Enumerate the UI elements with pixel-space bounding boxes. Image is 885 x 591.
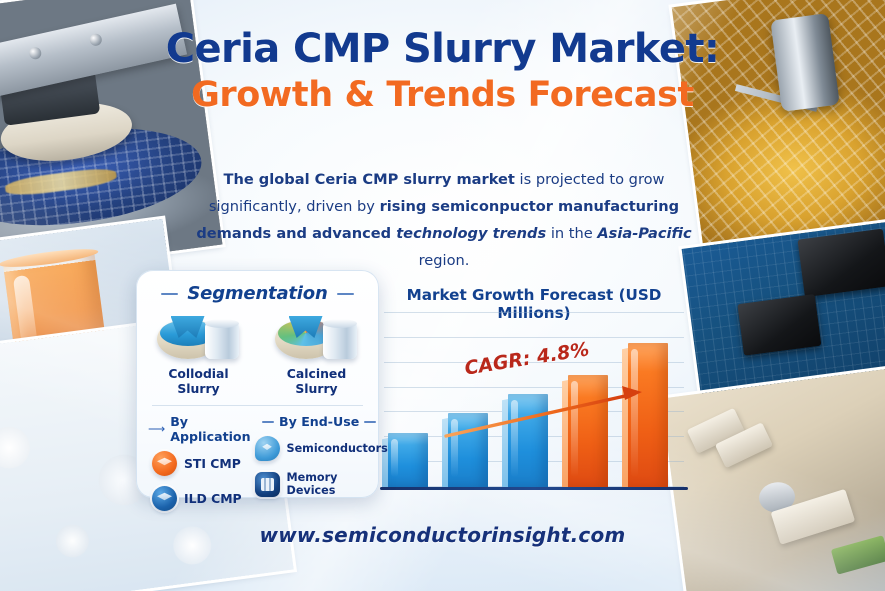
chart-plot-area: CAGR: 4.8% (384, 312, 684, 490)
column-by-application: ⟶ By Application STI CMP ILD CMP (148, 414, 251, 521)
segmentation-columns: ⟶ By Application STI CMP ILD CMP By End-… (136, 414, 379, 521)
intro-text-6: Asia-Pacific (597, 225, 691, 242)
page-title: Ceria CMP Slurry Market: (0, 26, 885, 72)
segmentation-divider (152, 405, 363, 406)
memory-devices-icon (255, 472, 280, 497)
intro-text-5: in the (546, 225, 597, 242)
by-end-use-label: By End-Use (279, 414, 359, 429)
sti-cmp-label: STI CMP (184, 456, 241, 471)
colloidal-slurry-label: Collodial Slurry (153, 366, 245, 396)
sti-cmp-icon (152, 451, 177, 476)
header-dash-left-icon (161, 293, 178, 295)
list-item-memory-devices[interactable]: Memory Devices (255, 471, 388, 497)
market-growth-chart: Market Growth Forecast (USD Millions) CA… (384, 286, 684, 500)
bar-highlight (391, 439, 398, 477)
intro-text-4: technology trends (396, 225, 546, 242)
intro-paragraph: The global Ceria CMP slurry market is pr… (186, 166, 702, 274)
bar-highlight (571, 381, 578, 477)
arrow-right-icon: ⟶ (148, 424, 165, 434)
header-dash-right-icon (337, 293, 354, 295)
slurry-type-colloidal[interactable]: Collodial Slurry (153, 313, 245, 396)
by-end-use-heading: By End-Use (251, 414, 388, 429)
slurry-type-row: Collodial Slurry Calcined Slurry (136, 313, 379, 396)
column-by-end-use: By End-Use Semiconductors Memory Devices (251, 414, 388, 521)
photo-electronics-assembly (661, 363, 885, 591)
bar-highlight (451, 419, 458, 477)
intro-text-7: region. (419, 252, 470, 269)
by-application-label: By Application (170, 414, 250, 444)
segmentation-header: Segmentation (136, 283, 379, 304)
chart-gridline (384, 312, 684, 313)
bar-highlight (631, 349, 638, 477)
infographic-poster: Ceria CMP Slurry Market: Growth & Trends… (0, 0, 885, 591)
colloidal-slurry-icon (153, 313, 245, 363)
dash-left-icon (262, 421, 274, 423)
ild-cmp-icon (152, 486, 177, 511)
list-item-sti-cmp[interactable]: STI CMP (152, 451, 251, 476)
website-url[interactable]: www.semiconductorinsight.com (260, 523, 626, 547)
by-application-heading: ⟶ By Application (148, 414, 251, 444)
dash-right-icon (364, 421, 376, 423)
segmentation-title: Segmentation (187, 283, 327, 304)
calcined-slurry-label: Calcined Slurry (271, 366, 363, 396)
chart-baseline (380, 487, 688, 490)
chart-bar (568, 375, 608, 487)
footer-block: www.semiconductorinsight.com (0, 523, 885, 547)
slurry-type-calcined[interactable]: Calcined Slurry (271, 313, 363, 396)
intro-text-1: The global Ceria CMP slurry market (223, 171, 514, 188)
list-item-semiconductors[interactable]: Semiconductors (255, 436, 388, 461)
semiconductors-label: Semiconductors (287, 442, 388, 455)
memory-devices-label: Memory Devices (287, 471, 388, 497)
chart-bar (508, 394, 548, 487)
semiconductors-icon (255, 436, 280, 461)
headline-block: Ceria CMP Slurry Market: Growth & Trends… (0, 26, 885, 116)
bar-highlight (511, 400, 518, 477)
ild-cmp-label: ILD CMP (184, 491, 242, 506)
chart-bar (388, 433, 428, 487)
cagr-annotation: CAGR: 4.8% (463, 338, 591, 379)
chart-gridline (384, 337, 684, 338)
segmentation-card: Segmentation Collodial Slurry Calcined S… (136, 270, 379, 498)
chart-bar (448, 413, 488, 487)
chart-bar (628, 343, 668, 487)
page-subtitle: Growth & Trends Forecast (0, 74, 885, 116)
calcined-slurry-icon (271, 313, 363, 363)
list-item-ild-cmp[interactable]: ILD CMP (152, 486, 251, 511)
